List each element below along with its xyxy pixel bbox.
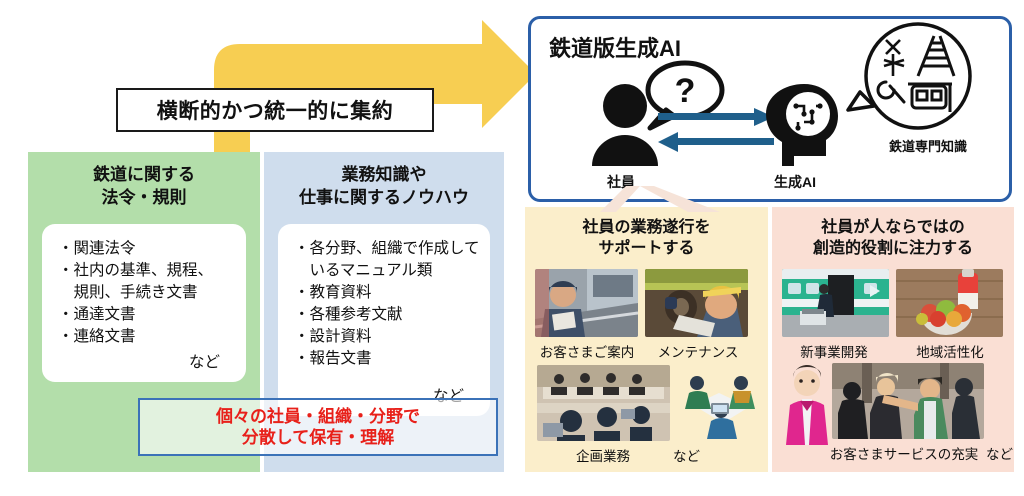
- photo-customer-service: [832, 363, 984, 439]
- list-item: 規則、手続き文書: [58, 282, 242, 304]
- photo-customer-guidance: [535, 269, 638, 337]
- source-panel-knowhow-title: 業務知識や 仕事に関するノウハウ: [264, 164, 504, 210]
- list-item: ・設計資料: [294, 326, 486, 348]
- generative-ai-title: 鉄道版生成AI: [549, 31, 681, 63]
- list-item: ・教育資料: [294, 282, 486, 304]
- rail-knowledge-label: 鉄道専門知識: [860, 136, 996, 155]
- diagram-canvas: 横断的かつ統一的に集約 鉄道に関する 法令・規則 ・関連法令 ・社内の基準、規程…: [0, 0, 1024, 496]
- list-item: ・報告文書: [294, 348, 486, 370]
- rail-knowledge-bubble-icon: [848, 22, 978, 134]
- warning-line-2: 分散して保有・理解: [242, 427, 395, 448]
- photo-caption: 地域活性化: [894, 341, 1006, 361]
- photo-planning-work: [537, 365, 670, 441]
- ai-brain-head-icon: [764, 82, 842, 166]
- photo-maintenance: [645, 269, 748, 337]
- outcome-panel-support-title: 社員の業務遂行を サポートする: [525, 217, 768, 260]
- list-item: ・社内の基準、規程、: [58, 260, 242, 282]
- list-item: ・通達文書: [58, 304, 242, 326]
- photo-caption: 企画業務: [543, 445, 663, 465]
- warning-line-1: 個々の社員・組織・分野で: [216, 406, 420, 427]
- meeting-clipart-icon: [679, 359, 759, 441]
- banner-label: 横断的かつ統一的に集約: [157, 95, 394, 125]
- photo-regional-revitalization: [896, 269, 1003, 337]
- photo-caption: メンテナンス: [643, 341, 753, 361]
- svg-text:?: ?: [675, 72, 696, 110]
- photo-caption: 新事業開発: [778, 341, 890, 361]
- etc-label: など: [986, 443, 1013, 463]
- list-item: ・連絡文書: [58, 326, 242, 348]
- outcome-panel-support: 社員の業務遂行を サポートする お客さまご案内: [525, 207, 768, 472]
- interaction-arrows-icon: [658, 108, 774, 154]
- warning-callout: 個々の社員・組織・分野で 分散して保有・理解: [138, 398, 498, 456]
- aggregation-arrow: [210, 16, 540, 156]
- photo-caption: お客さまサービスの充実: [820, 443, 988, 463]
- photo-new-business: [782, 269, 889, 337]
- photo-caption: お客さまご案内: [527, 341, 647, 361]
- list-item: ・各種参考文献: [294, 304, 486, 326]
- list-item: いるマニュアル類: [294, 260, 486, 282]
- outcome-panel-creative: 社員が人ならではの 創造的役割に注力する: [772, 207, 1014, 472]
- source-panel-regulations-title: 鉄道に関する 法令・規則: [28, 164, 260, 210]
- etc-label: など: [673, 445, 700, 465]
- outcome-connector: [600, 186, 850, 212]
- source-panel-knowhow-card: ・各分野、組織で作成して いるマニュアル類 ・教育資料 ・各種参考文献 ・設計資…: [278, 224, 490, 416]
- source-panel-regulations-card: ・関連法令 ・社内の基準、規程、 規則、手続き文書 ・通達文書 ・連絡文書 など: [42, 224, 246, 382]
- person-clipart-icon: [778, 365, 836, 449]
- list-item: ・各分野、組織で作成して: [294, 238, 486, 260]
- banner-aggregation: 横断的かつ統一的に集約: [116, 88, 434, 132]
- outcome-panel-creative-title: 社員が人ならではの 創造的役割に注力する: [772, 217, 1014, 260]
- list-item: ・関連法令: [58, 238, 242, 260]
- etc-label: など: [189, 350, 220, 372]
